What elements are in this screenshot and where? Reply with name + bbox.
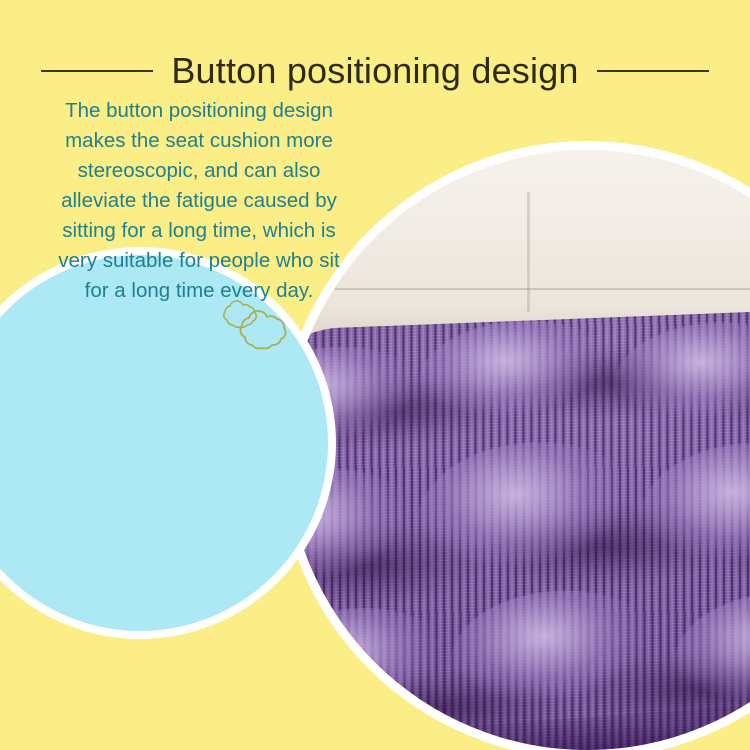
product-photo bbox=[287, 150, 750, 750]
info-body-text: The button positioning design makes the … bbox=[56, 96, 342, 306]
cloud-large-icon bbox=[233, 309, 297, 355]
photo-backdrop-line bbox=[335, 288, 750, 290]
product-photo-scene bbox=[287, 150, 750, 750]
title-rule-right bbox=[597, 70, 709, 72]
photo-backdrop-line-vertical bbox=[527, 192, 530, 312]
product-banner: Button positioning design bbox=[0, 0, 750, 750]
page-title: Button positioning design bbox=[171, 51, 578, 91]
title-rule-left bbox=[41, 70, 153, 72]
cushion-body bbox=[287, 305, 750, 750]
header: Button positioning design bbox=[0, 40, 750, 102]
